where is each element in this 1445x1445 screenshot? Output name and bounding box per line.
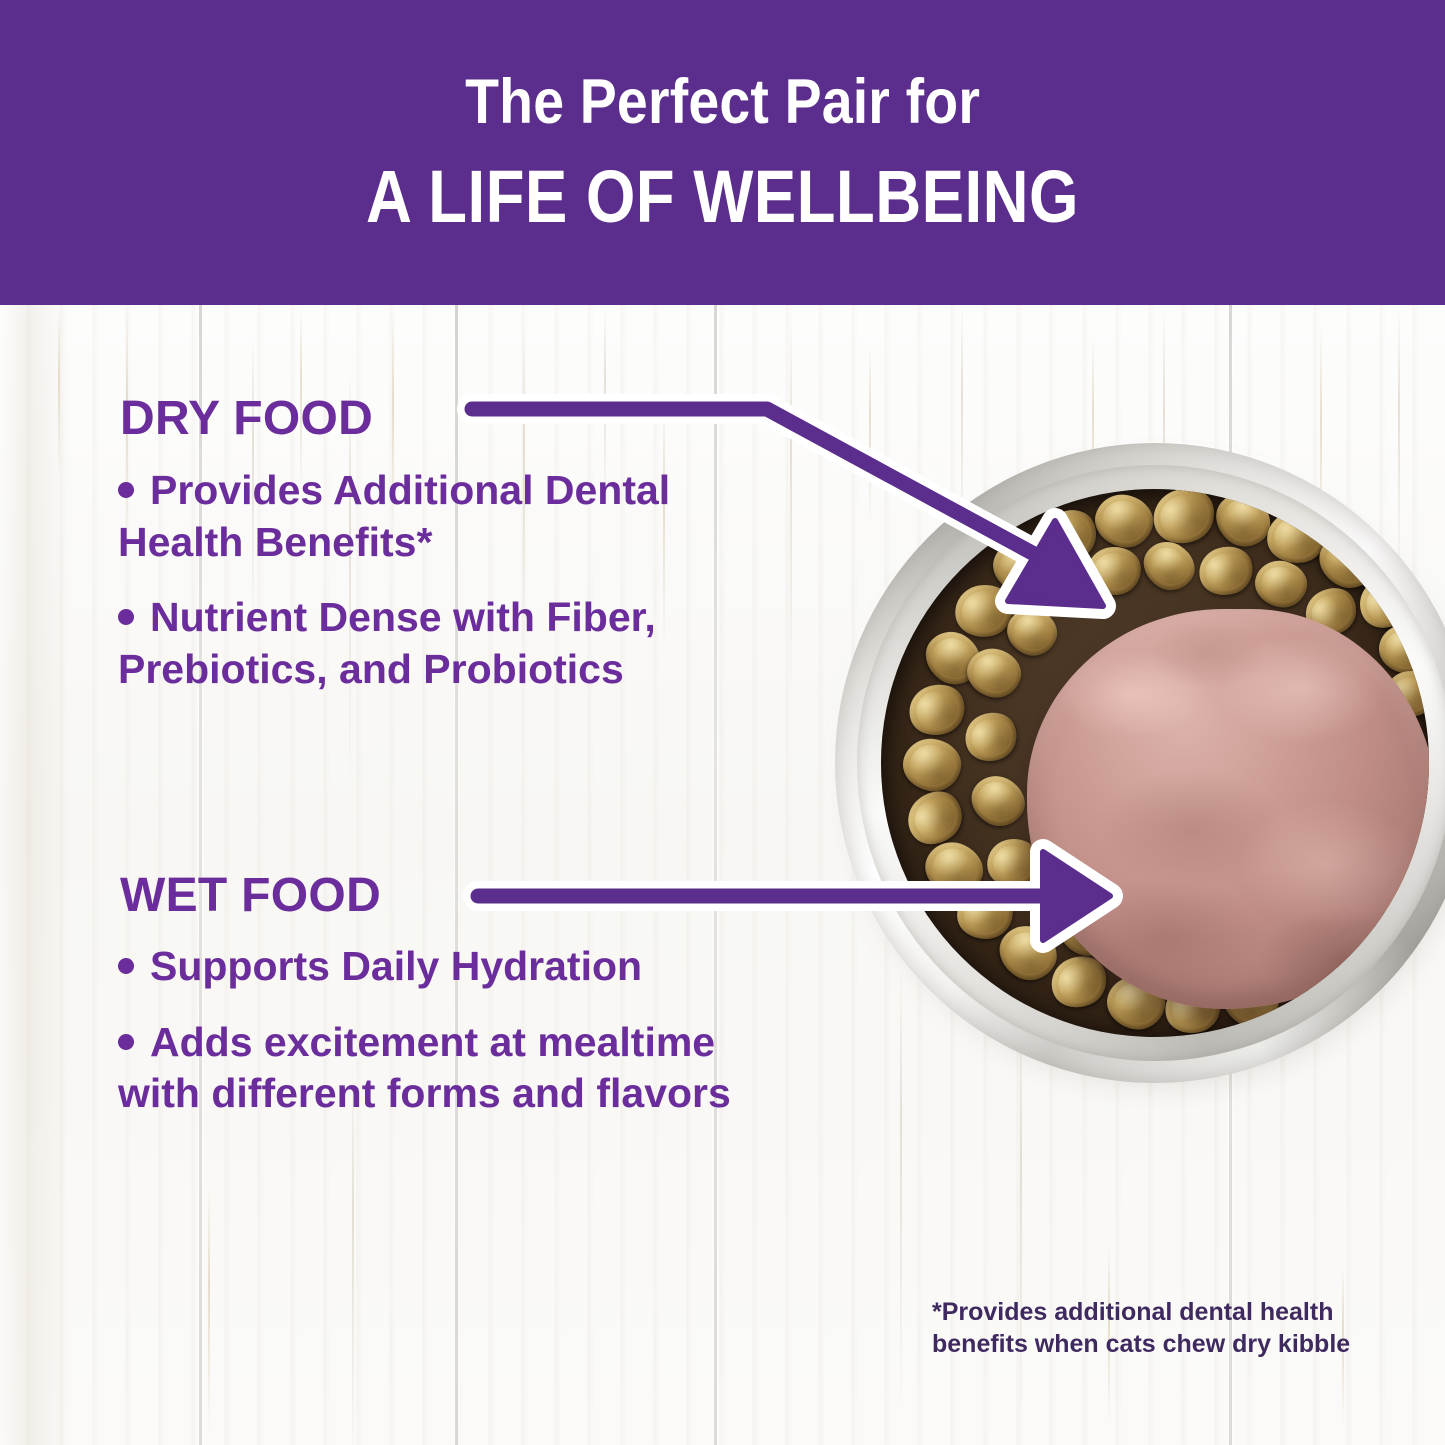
- wet-food-heading: WET FOOD: [120, 868, 381, 923]
- list-item: Adds excitement at mealtime with differe…: [118, 1017, 758, 1120]
- pate-texture: [1097, 769, 1287, 889]
- kibble-piece: [957, 704, 1024, 769]
- kibble-piece: [902, 677, 972, 743]
- pet-food-bowl-photo: [835, 443, 1445, 1103]
- wet-food-pate: [1027, 609, 1429, 1009]
- kibble-piece: [1085, 544, 1144, 597]
- bowl-interior: [881, 489, 1429, 1037]
- kibble-piece: [963, 767, 1033, 835]
- list-item: Provides Additional Dental Health Benefi…: [118, 465, 758, 568]
- bullet-text: Nutrient Dense with Fiber, Prebiotics, a…: [118, 594, 656, 692]
- banner-title-line-1: The Perfect Pair for: [465, 71, 980, 134]
- wet-food-bullet-list: Supports Daily Hydration Adds excitement…: [118, 941, 758, 1144]
- header-banner: The Perfect Pair for A LIFE OF WELLBEING: [0, 0, 1445, 305]
- kibble-piece: [1135, 533, 1203, 600]
- bullet-dot-icon: [118, 1034, 134, 1050]
- kibble-piece: [1090, 489, 1159, 553]
- bullet-dot-icon: [118, 609, 134, 625]
- bullet-dot-icon: [118, 958, 134, 974]
- wood-grain: [790, 315, 792, 695]
- kibble-piece: [1251, 556, 1311, 612]
- list-item: Supports Daily Hydration: [118, 941, 758, 993]
- pate-texture: [1237, 799, 1417, 929]
- dry-food-heading: DRY FOOD: [120, 391, 373, 446]
- banner-title-line-2: A LIFE OF WELLBEING: [366, 160, 1079, 234]
- kibble-piece: [900, 735, 965, 795]
- pate-texture: [1147, 619, 1267, 689]
- dry-food-bullet-list: Provides Additional Dental Health Benefi…: [118, 465, 758, 720]
- bullet-text: Adds excitement at mealtime with differe…: [118, 1019, 731, 1117]
- pate-texture: [1217, 633, 1387, 743]
- bullet-dot-icon: [118, 482, 134, 498]
- wood-grain: [208, 1185, 210, 1435]
- wood-grain: [58, 313, 60, 473]
- poster-root: The Perfect Pair for A LIFE OF WELLBEING…: [0, 0, 1445, 1445]
- kibble-piece: [1193, 540, 1259, 602]
- bullet-text: Supports Daily Hydration: [150, 943, 642, 989]
- pate-texture: [1057, 649, 1207, 739]
- list-item: Nutrient Dense with Fiber, Prebiotics, a…: [118, 592, 758, 695]
- bullet-text: Provides Additional Dental Health Benefi…: [118, 467, 670, 565]
- footnote-text: *Provides additional dental health benef…: [932, 1297, 1362, 1360]
